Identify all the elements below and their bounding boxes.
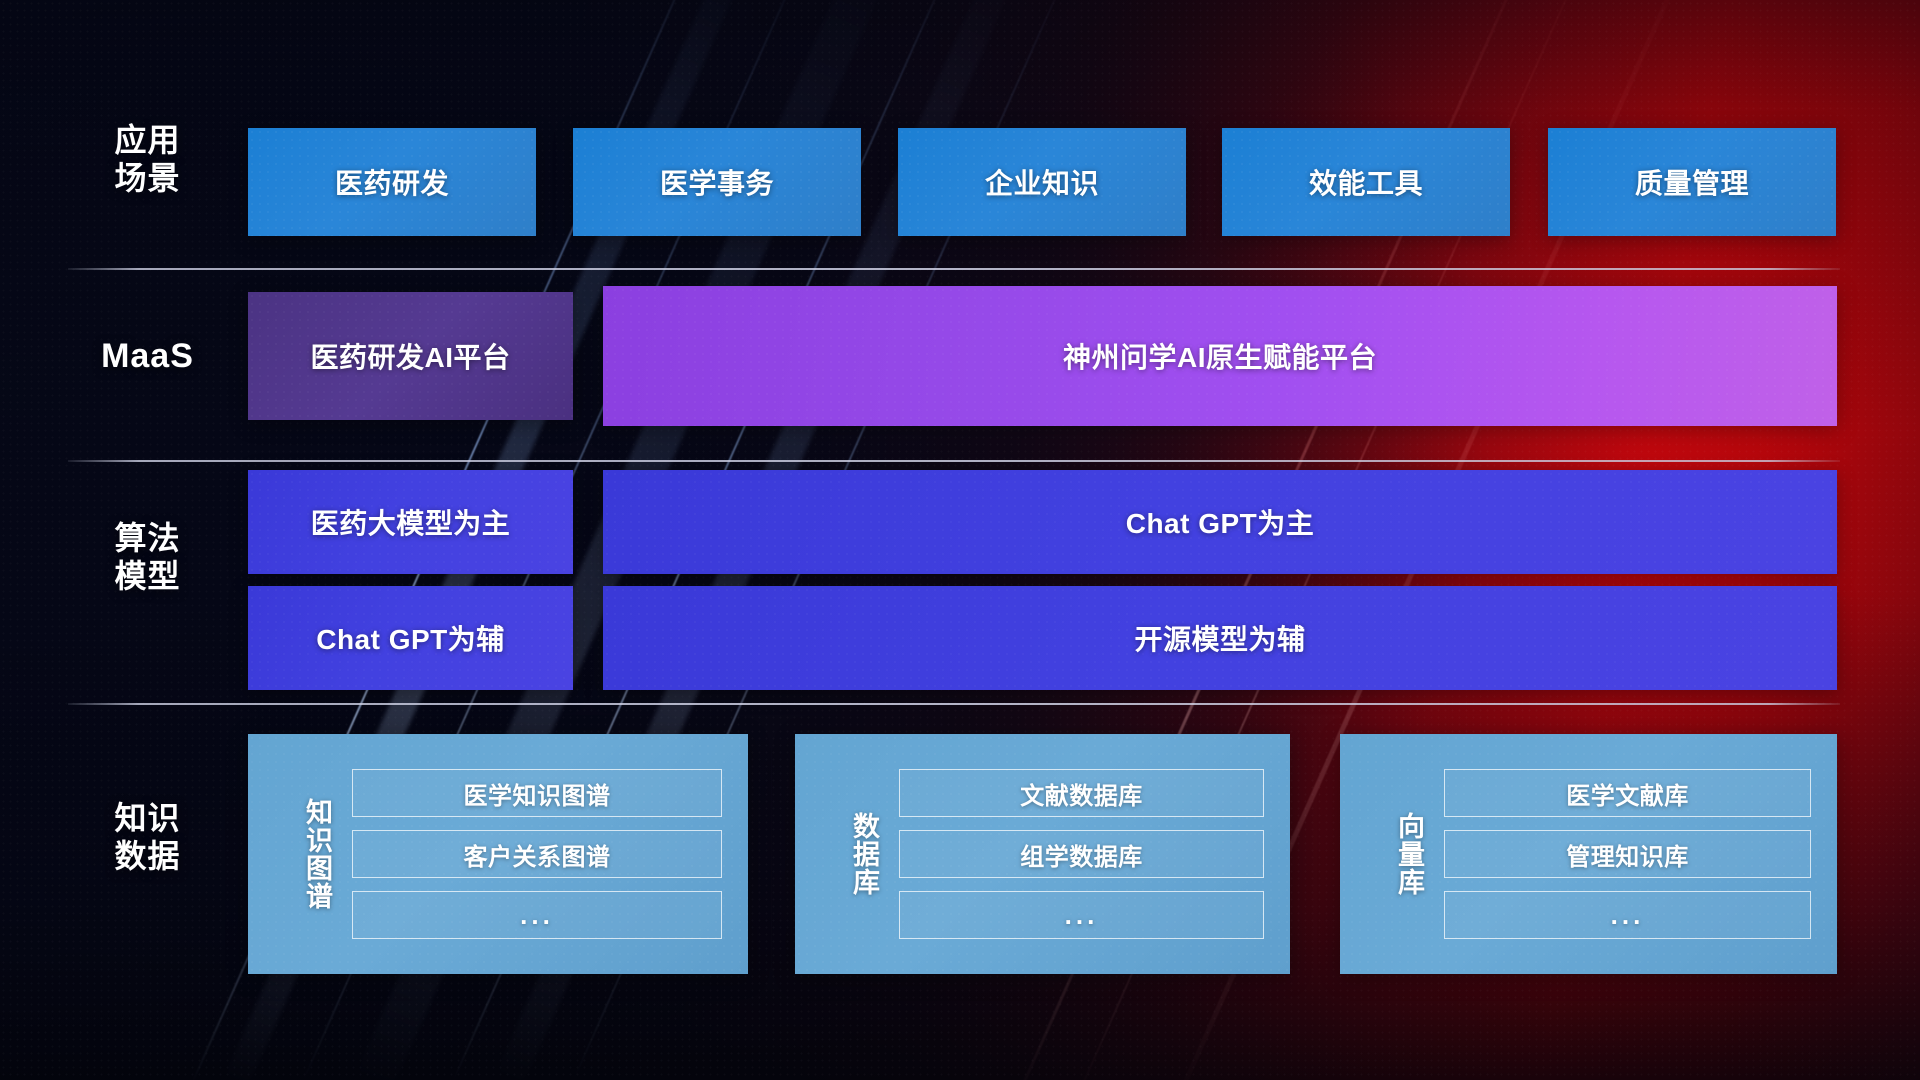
- knowledge-group-2-title: 数据库: [817, 812, 879, 896]
- row-label-algorithm: 算法 模型: [60, 520, 235, 596]
- algo-card-right-1[interactable]: Chat GPT为主: [603, 470, 1837, 574]
- knowledge-group-3: 向量库 医学文献库 管理知识库 ...: [1340, 734, 1837, 974]
- knowledge-group-3-title: 向量库: [1362, 812, 1424, 896]
- knowledge-item-more[interactable]: ...: [352, 891, 722, 939]
- app-card-4[interactable]: 效能工具: [1222, 128, 1510, 236]
- row-label-knowledge: 知识 数据: [60, 800, 235, 876]
- app-card-5[interactable]: 质量管理: [1548, 128, 1836, 236]
- knowledge-item-more[interactable]: ...: [1444, 891, 1811, 939]
- knowledge-group-2-items: 文献数据库 组学数据库 ...: [879, 747, 1290, 961]
- knowledge-group-1-title: 知识图谱: [270, 798, 332, 910]
- knowledge-item[interactable]: 文献数据库: [899, 769, 1264, 817]
- knowledge-item[interactable]: 医学知识图谱: [352, 769, 722, 817]
- maas-card-left[interactable]: 医药研发AI平台: [248, 292, 573, 420]
- algo-card-left-2[interactable]: Chat GPT为辅: [248, 586, 573, 690]
- algo-card-right-2[interactable]: 开源模型为辅: [603, 586, 1837, 690]
- divider-algorithm-knowledge: [68, 703, 1840, 705]
- divider-application-maas: [68, 268, 1840, 270]
- knowledge-group-1: 知识图谱 医学知识图谱 客户关系图谱 ...: [248, 734, 748, 974]
- knowledge-group-1-items: 医学知识图谱 客户关系图谱 ...: [332, 747, 748, 961]
- row-label-application: 应用 场景: [60, 122, 235, 198]
- knowledge-item[interactable]: 客户关系图谱: [352, 830, 722, 878]
- knowledge-item[interactable]: 管理知识库: [1444, 830, 1811, 878]
- knowledge-group-3-items: 医学文献库 管理知识库 ...: [1424, 747, 1837, 961]
- knowledge-item-more[interactable]: ...: [899, 891, 1264, 939]
- app-card-2[interactable]: 医学事务: [573, 128, 861, 236]
- app-card-1[interactable]: 医药研发: [248, 128, 536, 236]
- knowledge-group-2: 数据库 文献数据库 组学数据库 ...: [795, 734, 1290, 974]
- row-label-maas: MaaS: [60, 336, 235, 376]
- divider-maas-algorithm: [68, 460, 1840, 462]
- app-card-3[interactable]: 企业知识: [898, 128, 1186, 236]
- knowledge-item[interactable]: 组学数据库: [899, 830, 1264, 878]
- architecture-diagram: 应用 场景 医药研发 医学事务 企业知识 效能工具 质量管理 MaaS 医药研发…: [0, 0, 1920, 1080]
- maas-card-right[interactable]: 神州问学AI原生赋能平台: [603, 286, 1837, 426]
- algo-card-left-1[interactable]: 医药大模型为主: [248, 470, 573, 574]
- knowledge-item[interactable]: 医学文献库: [1444, 769, 1811, 817]
